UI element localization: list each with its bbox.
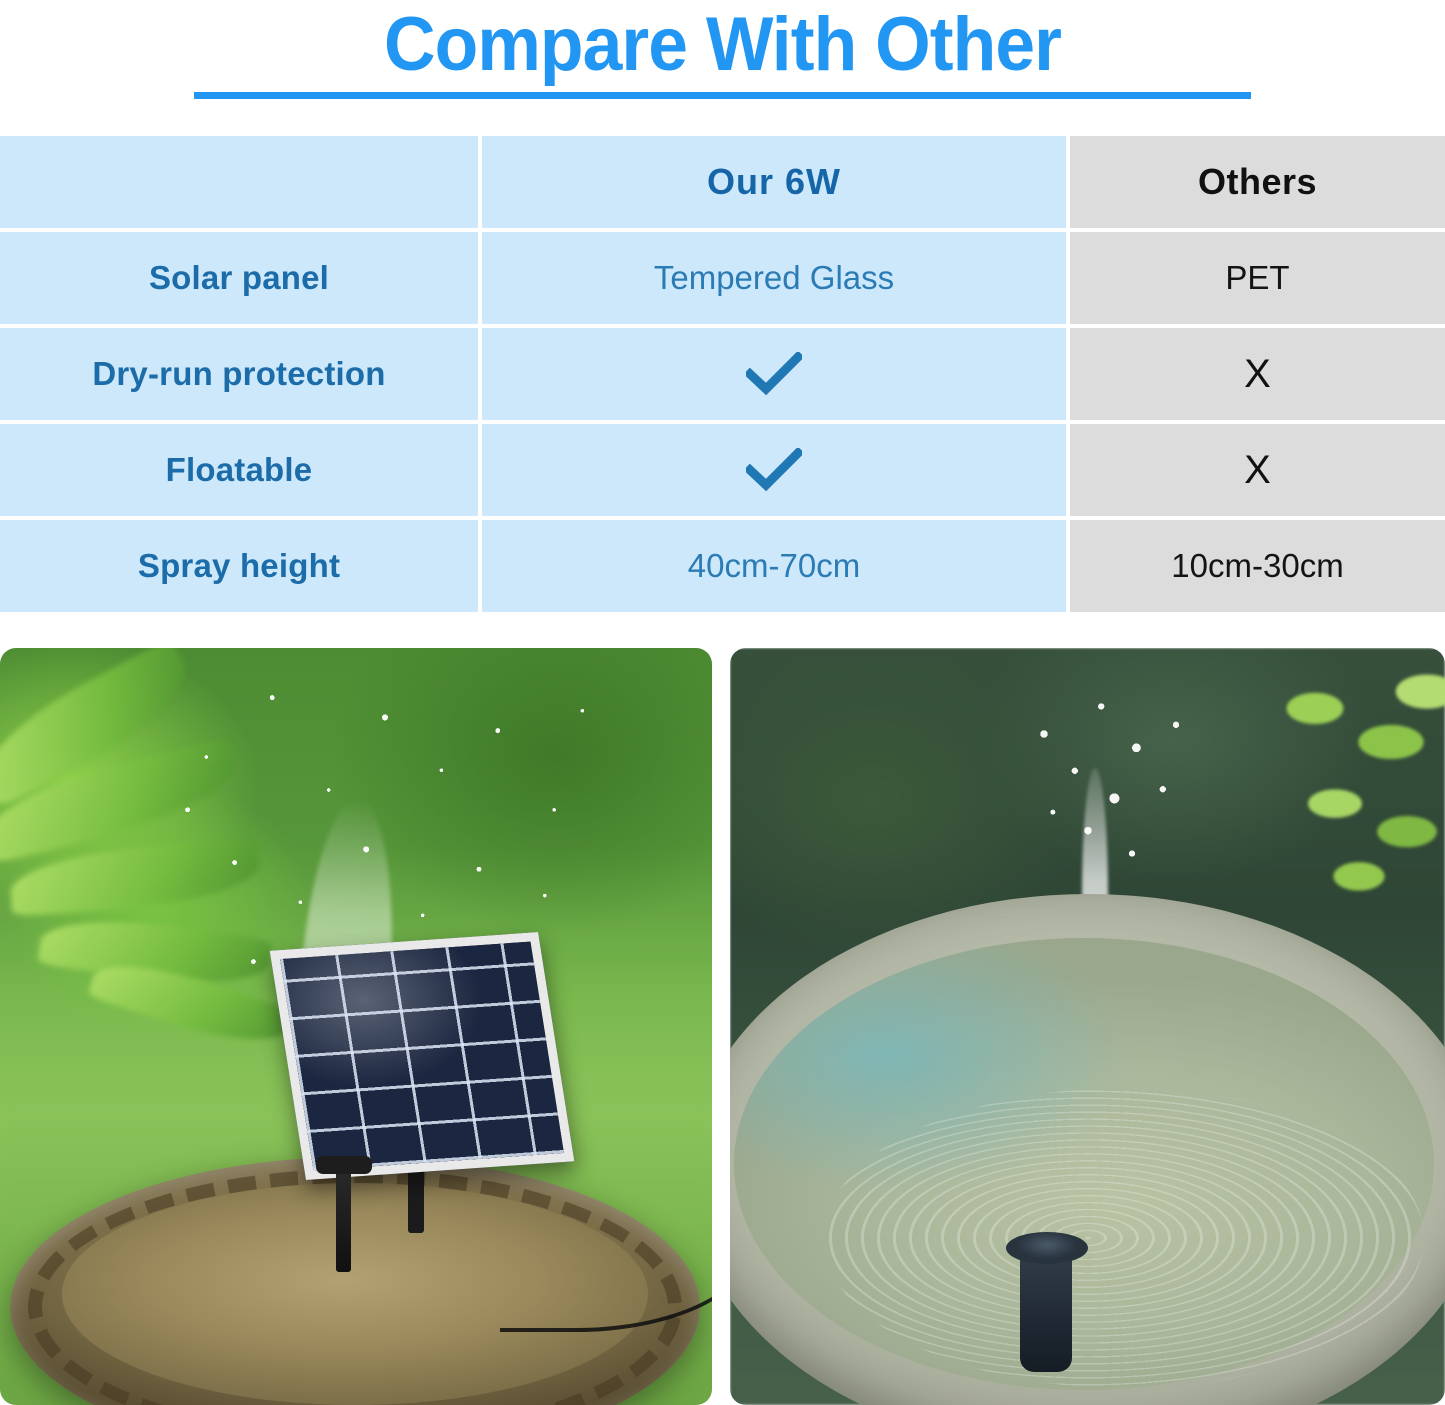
fountain-nozzle-stem	[336, 1168, 351, 1272]
feature-cell-dry-run-protection: Dry-run protection	[0, 328, 478, 420]
table-header-row: Our 6W Others	[0, 136, 1445, 228]
power-cord	[500, 1208, 712, 1332]
cross-mark-icon: X	[1244, 354, 1271, 394]
title-underline	[194, 92, 1251, 99]
header-cell-others: Others	[1070, 136, 1445, 228]
others-cell-floatable: X	[1070, 424, 1445, 516]
ours-cell-dry-run-protection	[482, 328, 1066, 420]
feature-label: Floatable	[166, 451, 313, 489]
pump-head	[1006, 1232, 1088, 1264]
ours-cell-solar-panel: Tempered Glass	[482, 232, 1066, 324]
ours-cell-floatable	[482, 424, 1066, 516]
header-ours-label: Our 6W	[707, 161, 841, 203]
page-title-block: Compare With Other	[0, 0, 1445, 99]
stone-birdbath-bowl	[730, 894, 1445, 1405]
others-value: PET	[1225, 259, 1289, 297]
table-row: Floatable X	[0, 424, 1445, 516]
checkmark-icon	[746, 352, 802, 396]
cross-mark-icon: X	[1244, 450, 1271, 490]
feature-cell-solar-panel: Solar panel	[0, 232, 478, 324]
solar-cell-grid	[280, 942, 564, 1171]
others-cell-dry-run-protection: X	[1070, 328, 1445, 420]
ours-value: Tempered Glass	[654, 259, 894, 297]
photo-solar-fountain-in-bronze-birdbath	[0, 648, 712, 1405]
ours-value: 40cm-70cm	[688, 547, 860, 585]
photo-competitor-fountain-in-stone-birdbath	[730, 648, 1445, 1405]
checkmark-icon	[746, 448, 802, 492]
product-photo-strip	[0, 648, 1445, 1405]
feature-label: Spray height	[138, 547, 340, 585]
ours-cell-spray-height: 40cm-70cm	[482, 520, 1066, 612]
table-row: Spray height 40cm-70cm 10cm-30cm	[0, 520, 1445, 612]
header-cell-ours: Our 6W	[482, 136, 1066, 228]
birdbath-water-surface	[734, 938, 1434, 1390]
others-cell-spray-height: 10cm-30cm	[1070, 520, 1445, 612]
fountain-nozzle-head	[316, 1156, 372, 1174]
table-row: Solar panel Tempered Glass PET	[0, 232, 1445, 324]
water-spray-droplets	[1000, 688, 1220, 918]
header-cell-feature	[0, 136, 478, 228]
feature-cell-floatable: Floatable	[0, 424, 478, 516]
feature-cell-spray-height: Spray height	[0, 520, 478, 612]
header-others-label: Others	[1198, 161, 1317, 203]
table-row: Dry-run protection X	[0, 328, 1445, 420]
others-cell-solar-panel: PET	[1070, 232, 1445, 324]
others-value: 10cm-30cm	[1171, 547, 1343, 585]
page-title: Compare With Other	[43, 4, 1401, 86]
feature-label: Solar panel	[149, 259, 329, 297]
comparison-table: Our 6W Others Solar panel Tempered Glass…	[0, 136, 1445, 612]
shrub-foliage	[1255, 658, 1445, 938]
water-ripples	[824, 1088, 1424, 1388]
feature-label: Dry-run protection	[92, 355, 385, 393]
solar-panel	[270, 932, 575, 1180]
